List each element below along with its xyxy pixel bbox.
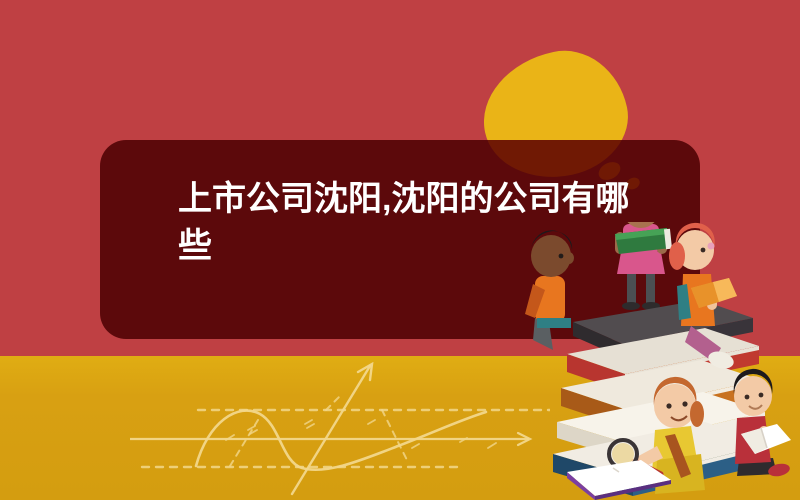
title-text-layer: 上市公司沈阳,沈阳的公司有哪些 [100,140,700,339]
page-canvas: 上市公司沈阳,沈阳的公司有哪些 [0,0,800,500]
page-title: 上市公司沈阳,沈阳的公司有哪些 [178,176,648,270]
right-child-red-shirt [734,369,791,478]
